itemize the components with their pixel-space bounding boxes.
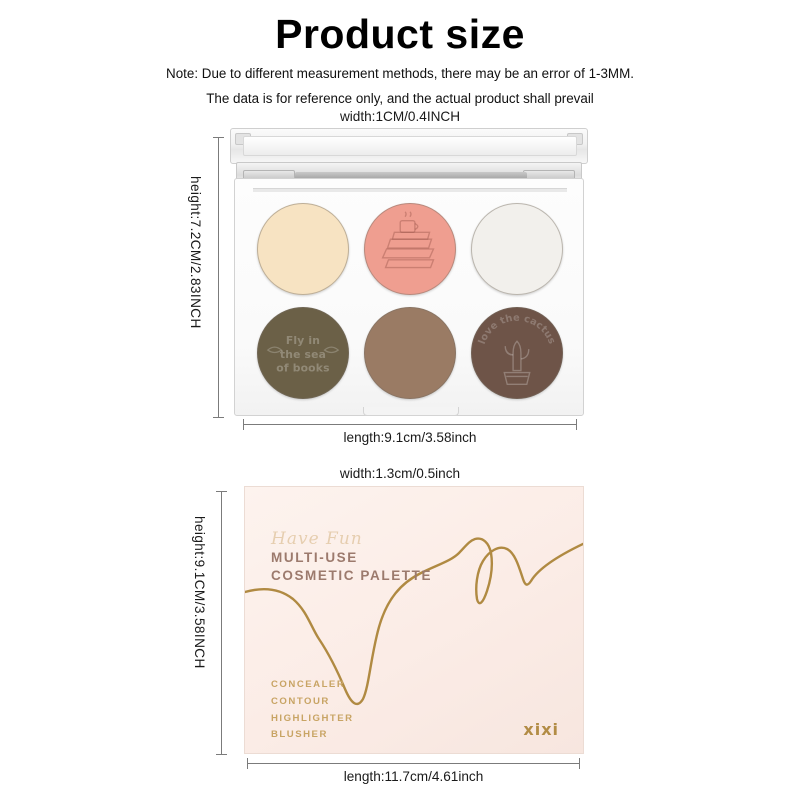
- box-uses-list: CONCEALER CONTOUR HIGHLIGHTER BLUSHER: [271, 677, 354, 744]
- palette-tray: Fly in the sea of books love the cactus: [234, 178, 584, 416]
- box-brand-logo: xixi: [523, 720, 559, 739]
- pan-emboss-2: [472, 204, 562, 294]
- box-height-label: height:9.1CM/3.58INCH: [192, 516, 207, 674]
- pan-contour-olive: Fly in the sea of books: [257, 307, 349, 399]
- palette-length-label: length:9.1cm/3.58inch: [243, 429, 577, 447]
- palette-length-text: length:9.1cm/3.58inch: [343, 430, 476, 445]
- svg-text:the sea: the sea: [280, 348, 326, 361]
- pan-blusher-coral: [364, 203, 456, 295]
- palette-clear-lid: [230, 128, 588, 164]
- palette-height-dimension-line: [218, 137, 219, 418]
- box-length-dimension-line: [247, 763, 580, 764]
- pan-contour-tan: [364, 307, 456, 399]
- palette-width-label: width:1CM/0.4INCH: [0, 108, 800, 126]
- cactus-emboss-icon: love the cactus: [472, 308, 562, 398]
- pan-concealer-cream: [257, 203, 349, 295]
- books-coffee-emboss-icon: [365, 204, 455, 294]
- wings-emboss-icon: Fly in the sea of books: [258, 308, 348, 398]
- product-image-open-palette: Fly in the sea of books love the cactus: [228, 128, 590, 418]
- note-line-2: The data is for reference only, and the …: [0, 92, 800, 105]
- pan-emboss-0: [258, 204, 348, 294]
- palette-length-dimension-line: [243, 424, 577, 425]
- box-title-text: MULTI-USE COSMETIC PALETTE: [271, 549, 432, 585]
- pan-emboss-4: [365, 308, 455, 398]
- box-length-label: length:11.7cm/4.61inch: [247, 768, 580, 786]
- palette-height-label: height:7.2CM/2.83INCH: [188, 176, 203, 334]
- box-length-text: length:11.7cm/4.61inch: [344, 769, 484, 784]
- tray-lip: [253, 188, 567, 192]
- tray-thumb-notch: [363, 407, 459, 416]
- box-height-dimension-line: [221, 491, 222, 755]
- box-script-text: Have Fun: [271, 529, 363, 549]
- note-line-1: Note: Due to different measurement metho…: [0, 67, 800, 80]
- palette-pan-grid: Fly in the sea of books love the cactus: [257, 203, 563, 399]
- product-image-retail-box: Have Fun MULTI-USE COSMETIC PALETTE CONC…: [244, 486, 584, 754]
- box-height-text: height:9.1CM/3.58INCH: [192, 516, 207, 669]
- palette-width-text: width:1CM/0.4INCH: [340, 109, 460, 124]
- pan-highlighter-white: [471, 203, 563, 295]
- palette-height-text: height:7.2CM/2.83INCH: [188, 176, 203, 329]
- box-width-label: width:1.3cm/0.5inch: [0, 465, 800, 483]
- svg-text:of books: of books: [276, 362, 329, 375]
- pan-contour-brown: love the cactus: [471, 307, 563, 399]
- lid-inner-panel: [243, 136, 577, 156]
- page-title: Product size: [0, 13, 800, 56]
- header: Product size Note: Due to different meas…: [0, 0, 800, 106]
- svg-text:Fly in: Fly in: [286, 334, 320, 347]
- box-width-text: width:1.3cm/0.5inch: [340, 466, 460, 481]
